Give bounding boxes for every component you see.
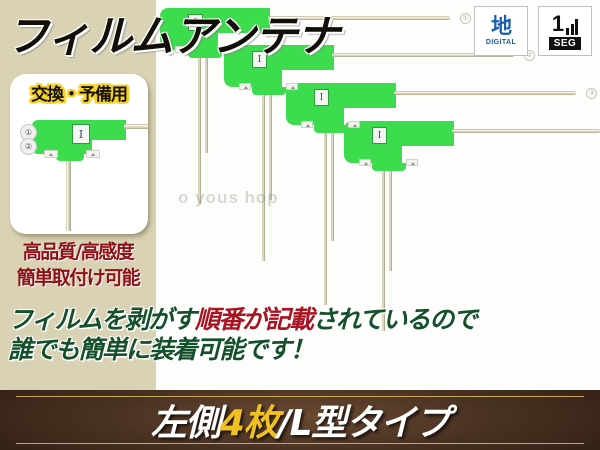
antenna-4-tab-left [359,159,371,166]
inset-tab-right [86,150,100,158]
oneseg-logo-word: SEG [549,37,582,50]
antenna-3-number: ③ [586,88,597,99]
antenna-1-lead [198,58,201,204]
selling-point-2: 簡単取付け可能 [0,266,156,292]
selling-points: 高品質/高感度 簡単取付け可能 [0,240,156,291]
digital-logo-mark: 地 [491,16,511,37]
description-line-2: 誰でも簡単に装着可能です！ [8,335,476,365]
antenna-2-tab-right [286,83,298,90]
description-line-1-suffix: されているので [313,305,477,334]
description-block: フィルムを剥がす順番が記載されているので 誰でも簡単に装着可能です！ [8,305,476,364]
antenna-3-lead-b [331,133,334,241]
antenna-2-lead-b [269,95,272,200]
antenna-1-number: ① [460,13,471,24]
banner-type-label: /L型タイプ [278,403,449,444]
signal-bars-icon [566,19,578,35]
selling-point-1: 高品質/高感度 [0,240,156,266]
antenna-1-lead-b [205,58,208,153]
antenna-4-arm [402,121,454,146]
oneseg-logo: 1 SEG [538,6,592,56]
inset-antenna-lead [66,161,71,231]
inset-antenna-cable [124,124,148,129]
bottom-banner: 左側4枚/L型タイプ [0,390,600,450]
inset-tab-left [44,150,58,158]
banner-left-label: 左側 [151,403,220,444]
inset-antenna-label: I [72,124,90,144]
antenna-2-tab-left [239,83,251,90]
description-highlight: 順番が記載 [195,305,313,334]
antenna-4: I ④ [344,121,600,421]
description-line-1-prefix: フィルムを剥がす [8,305,195,334]
antenna-3-cable [394,91,576,95]
product-banner-image: I ① I ② I [0,0,600,450]
digital-logo: 地 DIGITAL [474,6,528,56]
inset-badge: 交換・予備用 [31,80,127,105]
inset-antenna-foot [56,154,84,161]
antenna-3-arm [344,83,396,108]
antenna-4-label: I [372,127,387,144]
banner-count: 4枚 [220,403,278,444]
inset-antenna-photo: ① ② I [10,102,148,234]
oneseg-logo-one: 1 [552,13,564,35]
antenna-4-lead-b [389,171,392,271]
inset-detail-card: 交換・予備用 ① ② I [10,74,148,234]
certification-logos: 地 DIGITAL 1 SEG [474,6,592,56]
antenna-3-foot [314,125,348,133]
antenna-3-tab-right [348,121,360,128]
digital-logo-word: DIGITAL [486,39,516,46]
antenna-2-lead [262,95,265,261]
inset-dial-bottom-icon: ② [20,138,37,155]
antenna-4-foot [372,163,406,171]
antenna-2-foot [252,87,286,95]
antenna-3-label: I [314,89,329,106]
antenna-3-tab-left [301,121,313,128]
inset-antenna-arm [92,120,126,140]
page-title: フィルムアンテナ [6,2,339,64]
antenna-4-tab-right [406,159,418,166]
antenna-3-lead [324,133,327,305]
oneseg-logo-top: 1 [552,13,578,35]
antenna-4-cable [452,129,600,133]
description-line-1: フィルムを剥がす順番が記載されているので [8,305,476,335]
bottom-banner-text: 左側4枚/L型タイプ [0,394,600,446]
